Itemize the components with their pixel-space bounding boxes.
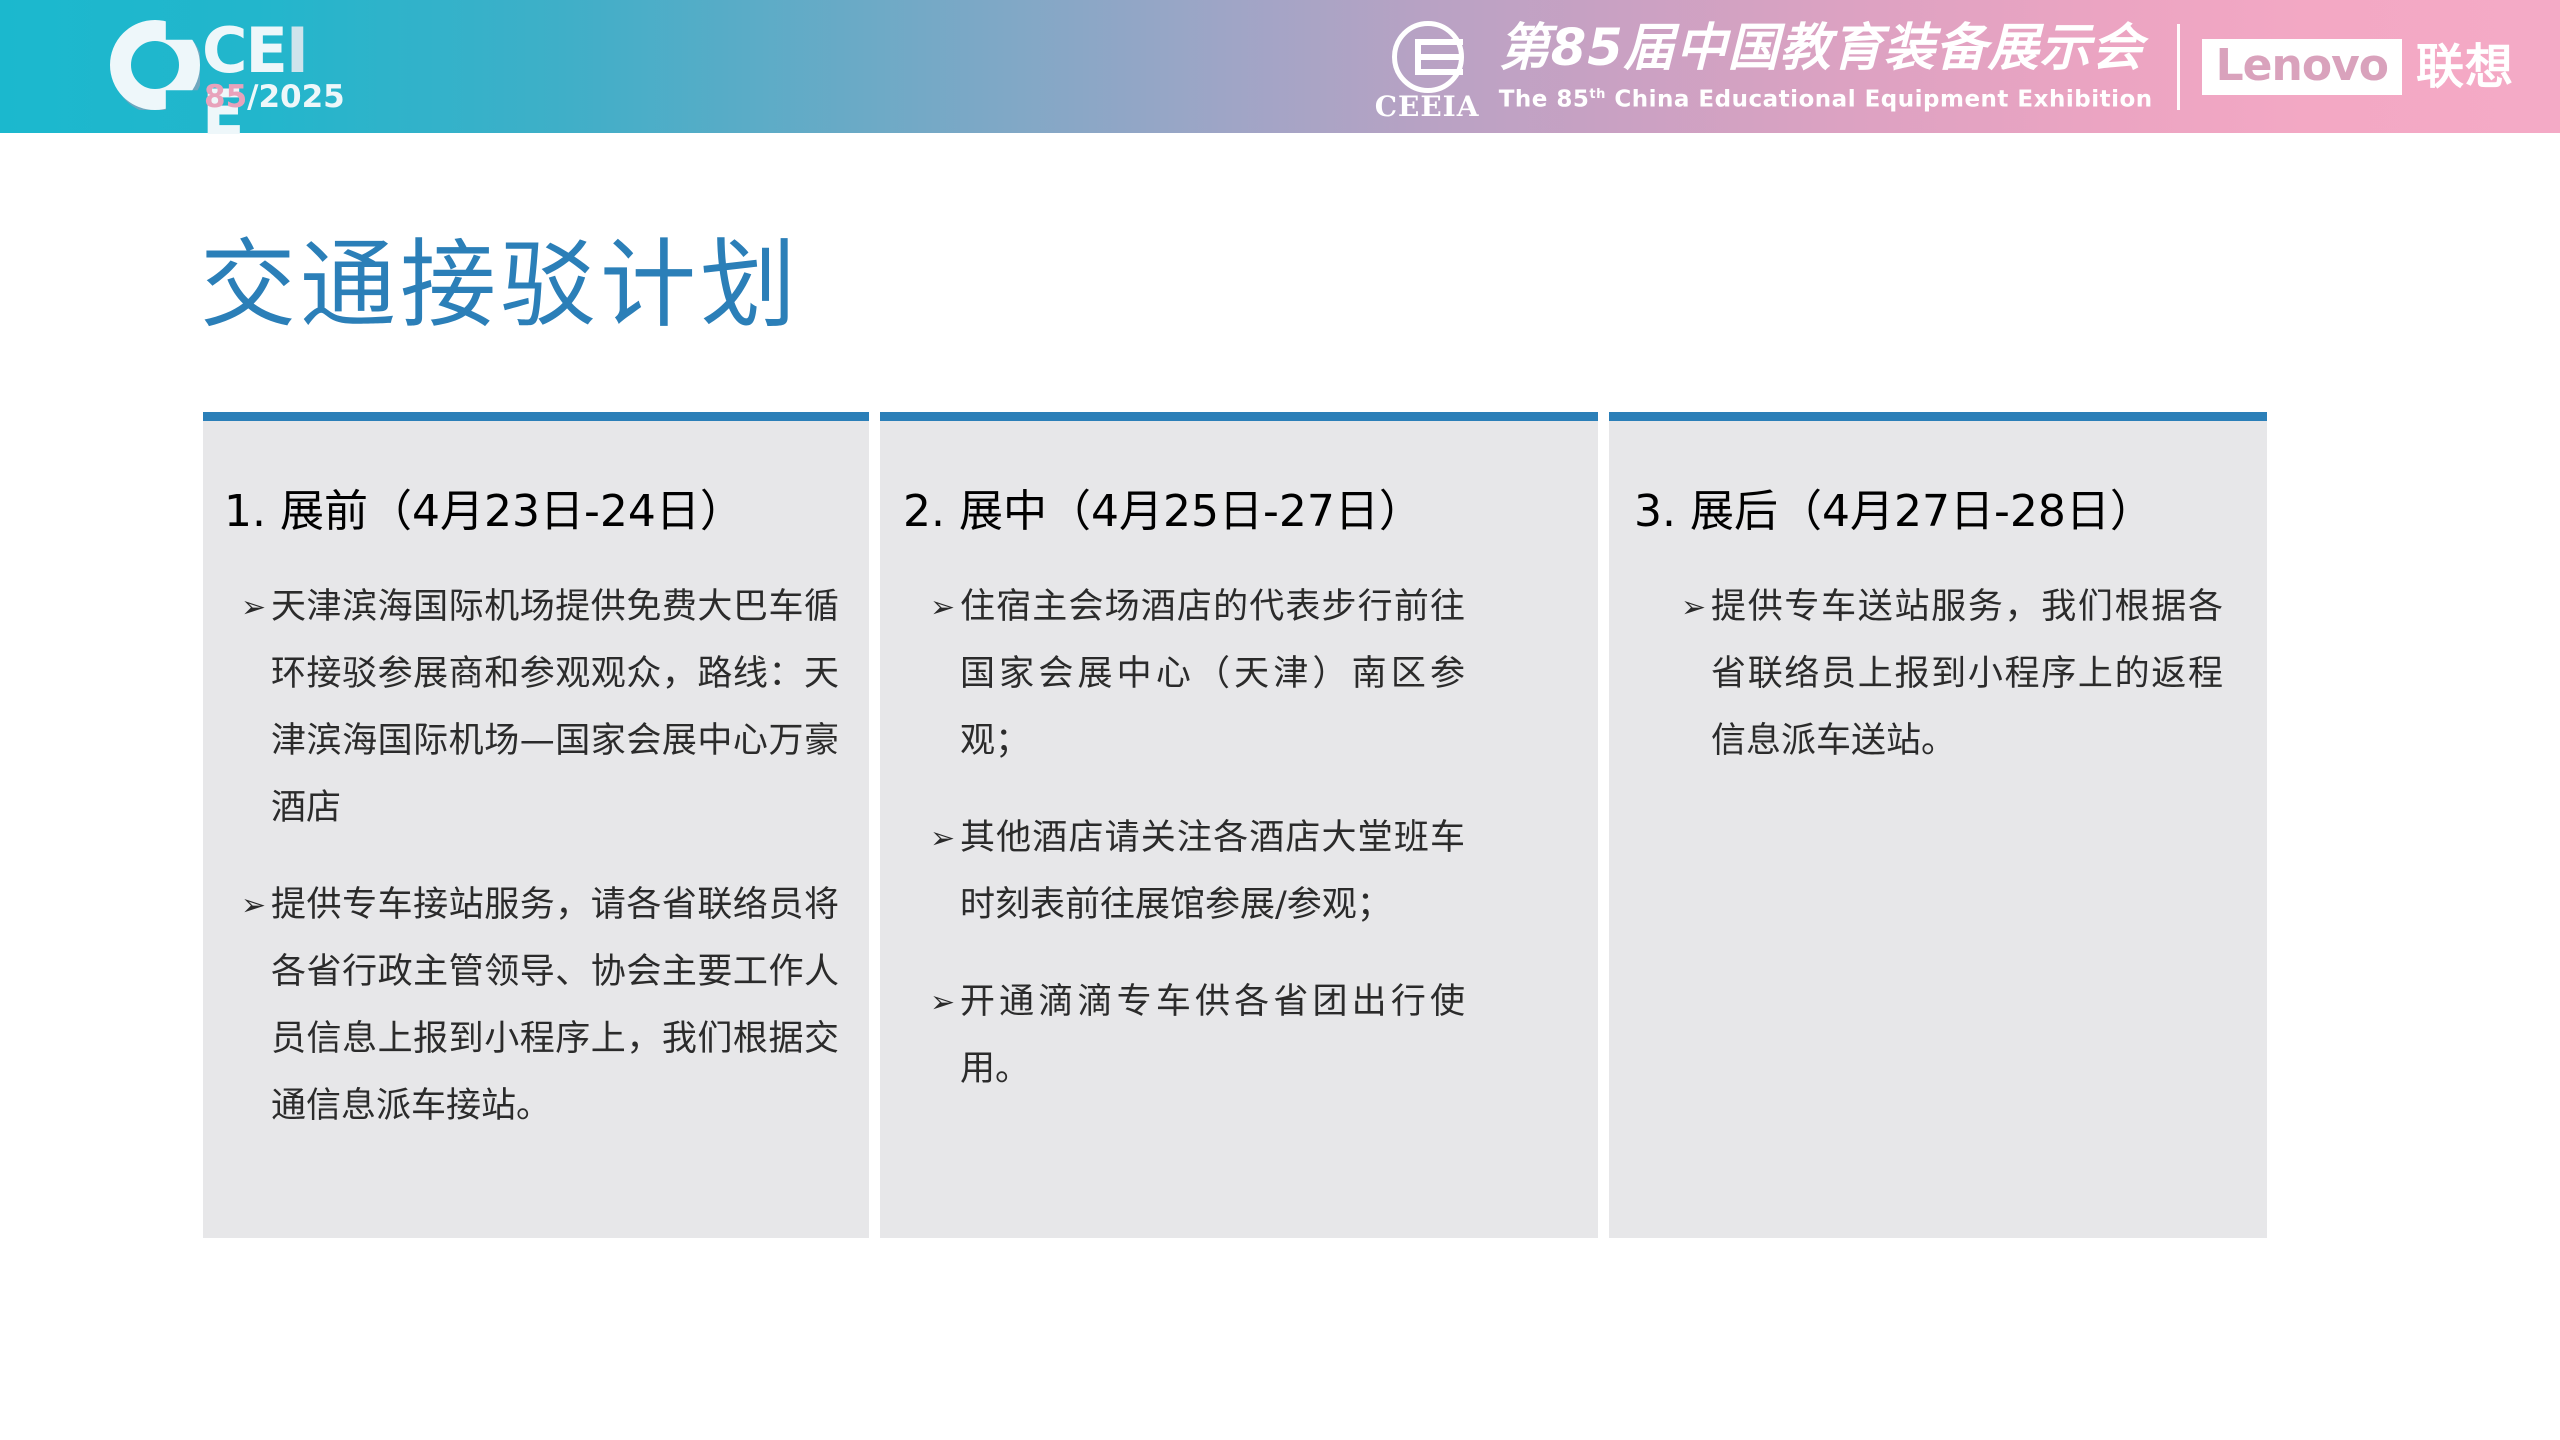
slide-root: CEIE 85/2025 CEEIA 第85届中国教育装备展示会 The 85t…: [0, 0, 2560, 1440]
list-item-text: 天津滨海国际机场提供免费大巴车循环接驳参展商和参观观众，路线：天津滨海国际机场—…: [271, 574, 839, 842]
ceie-year-separator: /: [247, 79, 258, 115]
arrow-bullet-icon: ➢: [1681, 574, 1711, 641]
ceie-year-number: 85: [204, 79, 247, 115]
exhibition-title-en-pre: The 85: [1499, 86, 1590, 112]
phase-card-bullet-list: ➢ 天津滨海国际机场提供免费大巴车循环接驳参展商和参观观众，路线：天津滨海国际机…: [241, 574, 839, 1140]
phase-card-heading: 1. 展前（4月23日-24日）: [224, 484, 869, 540]
exhibition-title-cn: 第85届中国教育装备展示会: [1499, 20, 2153, 78]
ceie-wordmark-mid: I: [286, 20, 307, 82]
header-banner: CEIE 85/2025 CEEIA 第85届中国教育装备展示会 The 85t…: [0, 0, 2560, 133]
ceie-year-mark: 85/2025: [204, 82, 345, 113]
header-divider: [2177, 24, 2180, 110]
sponsor-cn-wordmark: 联想: [2416, 42, 2514, 92]
exhibition-title-en-ordinal: th: [1589, 87, 1605, 102]
list-item: ➢ 提供专车送站服务，我们根据各省联络员上报到小程序上的返程信息派车送站。: [1681, 574, 2237, 775]
phase-card-bullet-list: ➢ 提供专车送站服务，我们根据各省联络员上报到小程序上的返程信息派车送站。: [1681, 574, 2237, 775]
list-item-text: 住宿主会场酒店的代表步行前往国家会展中心（天津）南区参观；: [960, 574, 1465, 775]
phase-card-during-show: 2. 展中（4月25日-27日） ➢ 住宿主会场酒店的代表步行前往国家会展中心（…: [880, 412, 1598, 1238]
sponsor-latin-wordmark: Lenovo: [2202, 39, 2402, 95]
list-item-text: 提供专车送站服务，我们根据各省联络员上报到小程序上的返程信息派车送站。: [1711, 574, 2223, 775]
phase-card-post-show: 3. 展后（4月27日-28日） ➢ 提供专车送站服务，我们根据各省联络员上报到…: [1609, 412, 2267, 1238]
phase-cards-container: 1. 展前（4月23日-24日） ➢ 天津滨海国际机场提供免费大巴车循环接驳参展…: [203, 412, 2305, 1238]
sponsor-logo: Lenovo 联想: [2202, 39, 2514, 95]
page-title: 交通接驳计划: [200, 225, 800, 345]
list-item-text: 提供专车接站服务，请各省联络员将各省行政主管领导、协会主要工作人员信息上报到小程…: [271, 872, 839, 1140]
phase-card-pre-show: 1. 展前（4月23日-24日） ➢ 天津滨海国际机场提供免费大巴车循环接驳参展…: [203, 412, 869, 1238]
phase-card-bullet-list: ➢ 住宿主会场酒店的代表步行前往国家会展中心（天津）南区参观； ➢ 其他酒店请关…: [930, 574, 1568, 1103]
list-item: ➢ 提供专车接站服务，请各省联络员将各省行政主管领导、协会主要工作人员信息上报到…: [241, 872, 839, 1140]
arrow-bullet-icon: ➢: [930, 805, 960, 872]
arrow-bullet-icon: ➢: [930, 574, 960, 641]
ceeia-bar-bottom-icon: [1415, 69, 1463, 75]
arrow-bullet-icon: ➢: [930, 969, 960, 1036]
arrow-bullet-icon: ➢: [241, 574, 271, 641]
ceeia-wordmark: CEEIA: [1375, 93, 1480, 121]
arrow-bullet-icon: ➢: [241, 872, 271, 939]
exhibition-title-block: 第85届中国教育装备展示会 The 85th China Educational…: [1499, 20, 2153, 115]
ceie-year-full: 2025: [258, 79, 344, 115]
phase-card-heading: 2. 展中（4月25日-27日）: [903, 484, 1598, 540]
ceie-c-mark-icon: [110, 20, 200, 110]
phase-card-heading: 3. 展后（4月27日-28日）: [1634, 484, 2267, 540]
exhibition-title-en-post: China Educational Equipment Exhibition: [1606, 86, 2153, 112]
ceeia-bar-mid-icon: [1415, 54, 1463, 60]
list-item: ➢ 住宿主会场酒店的代表步行前往国家会展中心（天津）南区参观；: [930, 574, 1568, 775]
ceie-brand-logo: CEIE 85/2025: [110, 8, 330, 118]
exhibition-title-en: The 85th China Educational Equipment Exh…: [1499, 80, 2153, 115]
list-item-text: 其他酒店请关注各酒店大堂班车时刻表前往展馆参展/参观；: [960, 805, 1465, 939]
list-item: ➢ 开通滴滴专车供各省团出行使用。: [930, 969, 1568, 1103]
ceeia-bar-top-icon: [1415, 39, 1463, 45]
header-right-logos: CEEIA 第85届中国教育装备展示会 The 85th China Educa…: [1375, 8, 2514, 126]
list-item: ➢ 其他酒店请关注各酒店大堂班车时刻表前往展馆参展/参观；: [930, 805, 1568, 939]
ceeia-logo-icon: CEEIA: [1375, 15, 1493, 119]
list-item-text: 开通滴滴专车供各省团出行使用。: [960, 969, 1465, 1103]
list-item: ➢ 天津滨海国际机场提供免费大巴车循环接驳参展商和参观观众，路线：天津滨海国际机…: [241, 574, 839, 842]
